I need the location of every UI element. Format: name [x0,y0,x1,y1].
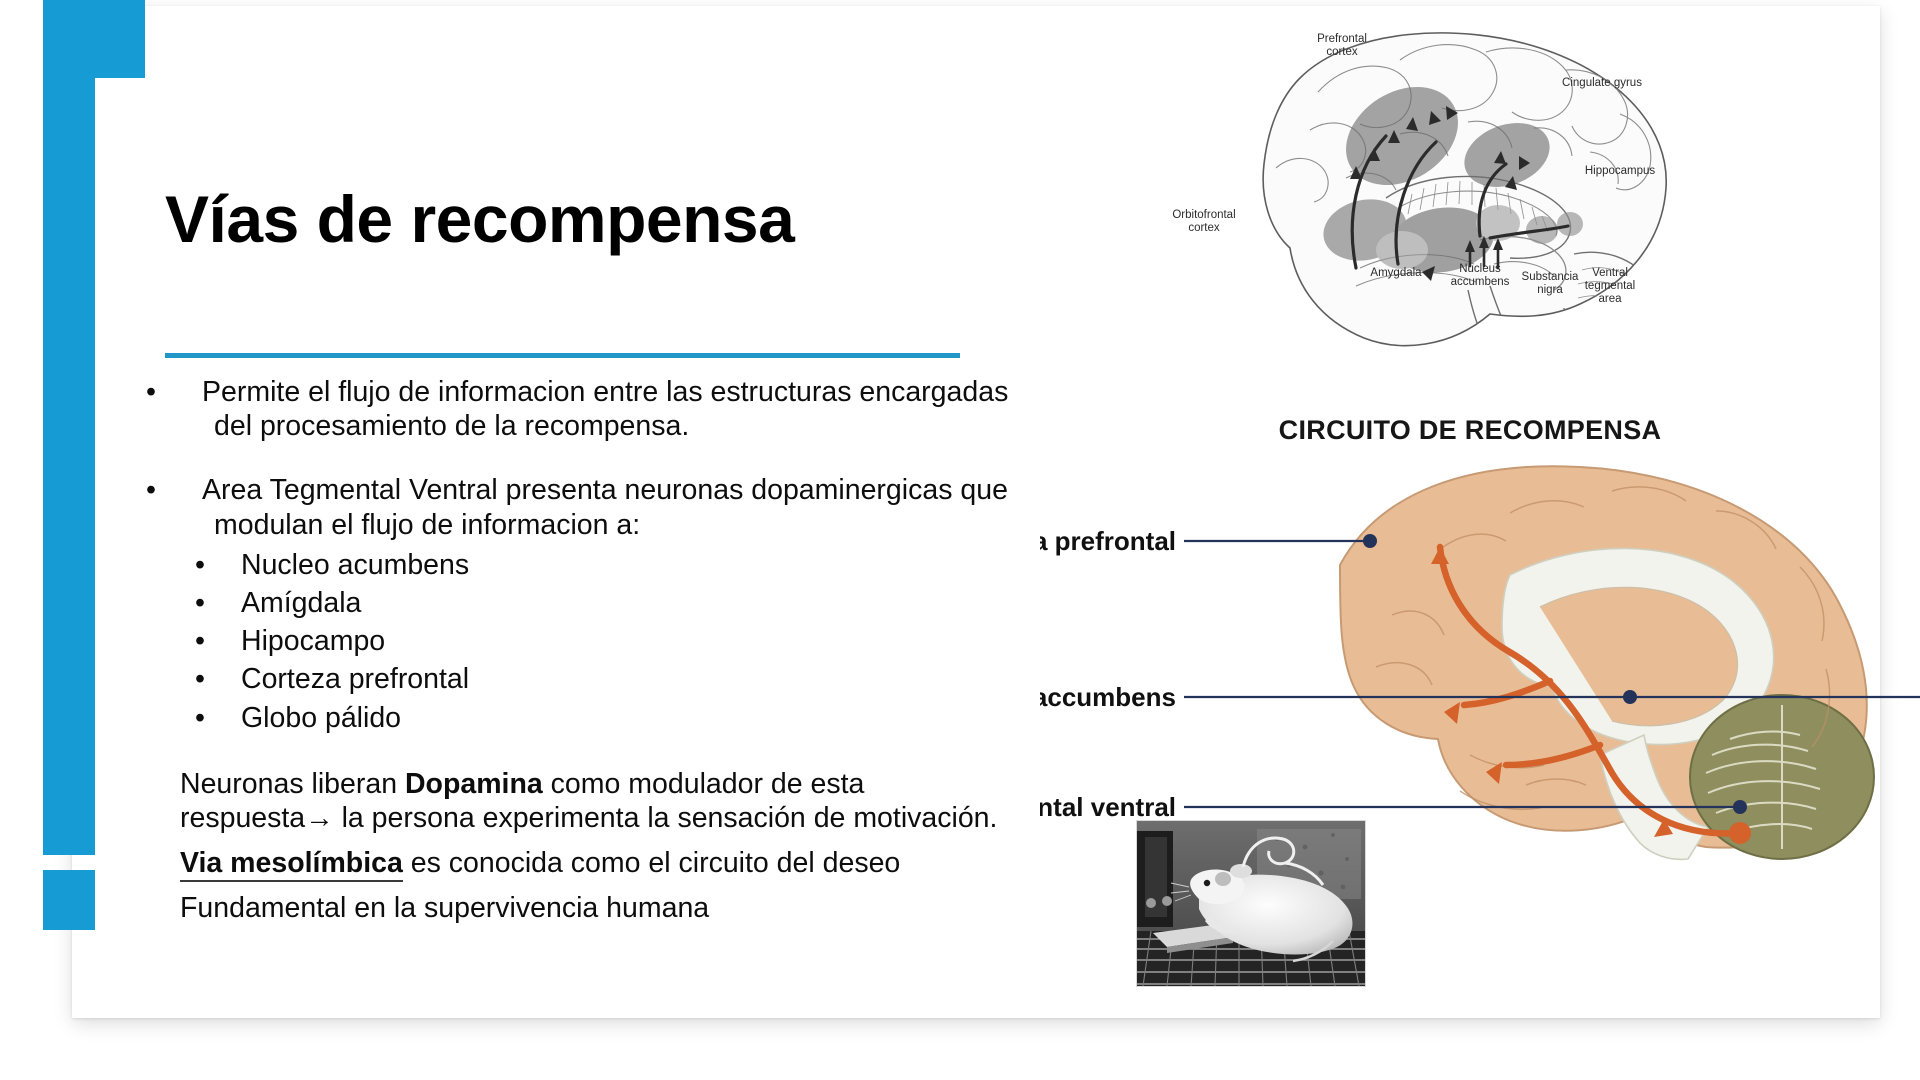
list-item: •Nucleo acumbens [180,546,1010,584]
label-ventral-tegmental-area-2: tegmental [1585,280,1636,292]
label-nucleus-accumbens-2: accumbens [1451,276,1510,288]
bullet-glyph: • [219,699,241,737]
spacer [180,443,1010,473]
paragraph-survival: Fundamental en la supervivencia humana [180,891,1010,926]
slide-canvas: Vías de recompensa •Permite el flujo de … [0,0,1920,1080]
label-orbitofrontal-cortex-2: cortex [1188,222,1220,234]
sub-item-label: Amígdala [241,587,361,619]
circuit-heading: CIRCUITO DE RECOMPENSA [1260,415,1680,446]
list-item: •Hipocampo [180,622,1010,660]
label-area-tegmental-ventral: Área tegmental ventral [1040,792,1176,822]
label-prefrontal-cortex: Prefrontal [1317,33,1367,45]
paragraph-dopamine: Neuronas liberan Dopamina como modulador… [180,767,1010,837]
paragraph-mesolimbic: Via mesolímbica es conocida como el circ… [180,846,1010,881]
title-divider [165,353,960,358]
label-ventral-tegmental-area-3: area [1598,293,1622,305]
anchor-dot-accumbens [1623,690,1637,704]
paragraph-mesolimbic-suffix: es conocida como el circuito del deseo [403,847,900,879]
bullet-item-1-text: Permite el flujo de informacion entre la… [202,376,1008,442]
bullet-glyph: • [219,660,241,698]
label-cingulate-gyrus: Cingulate gyrus [1562,77,1642,89]
lab-rat-photo [1136,820,1366,987]
sub-item-label: Corteza prefrontal [241,663,469,695]
label-ventral-tegmental-area: Ventral [1592,267,1628,279]
label-substancia-nigra-2: nigra [1537,284,1563,296]
brain-circuit-diagram: Corteza prefrontal Núcleo accumbens Área… [1040,455,1920,875]
bullet-item-2: •Area Tegmental Ventral presenta neurona… [180,473,1010,541]
brain-anatomical-diagram: Prefrontal cortex Cingulate gyrus Hippoc… [1150,18,1730,398]
label-prefrontal-cortex-2: cortex [1326,46,1358,58]
list-item: •Amígdala [180,584,1010,622]
spacer [180,737,1010,767]
sub-item-label: Globo pálido [241,702,401,734]
mesolimbic-emphasis: Via mesolímbica [180,847,403,882]
label-hippocampus: Hippocampus [1585,165,1656,177]
dopamine-emphasis: Dopamina [405,768,543,800]
label-nucleus-accumbens: Nucleus [1459,263,1501,275]
accent-spine [43,0,95,855]
bullet-glyph: • [219,622,241,660]
list-item: •Corteza prefrontal [180,660,1010,698]
bullet-item-2-text: Area Tegmental Ventral presenta neuronas… [202,474,1008,540]
bullet-glyph: • [219,546,241,584]
sub-item-label: Hipocampo [241,625,385,657]
bullet-glyph: • [180,375,202,409]
bullet-glyph: • [180,473,202,507]
label-orbitofrontal-cortex: Orbitofrontal [1172,209,1235,221]
bullet-glyph: • [219,584,241,622]
paragraph-dopamine-prefix: Neuronas liberan [180,768,405,800]
bullet-item-1: •Permite el flujo de informacion entre l… [180,375,1010,443]
sub-bullet-list: •Nucleo acumbens •Amígdala •Hipocampo •C… [180,546,1010,737]
label-corteza-prefrontal: Corteza prefrontal [1040,526,1176,556]
body-content: •Permite el flujo de informacion entre l… [180,375,1010,926]
label-substancia-nigra: Substancia [1522,271,1580,283]
page-title: Vías de recompensa [165,185,985,254]
accent-stub-bottom [43,870,95,930]
sub-item-label: Nucleo acumbens [241,549,469,581]
list-item: •Globo pálido [180,699,1010,737]
anchor-dot-vta [1733,800,1747,814]
label-nucleo-accumbens: Núcleo accumbens [1040,682,1176,712]
label-amygdala: Amygdala [1370,267,1422,279]
anchor-dot-prefrontal [1363,534,1377,548]
